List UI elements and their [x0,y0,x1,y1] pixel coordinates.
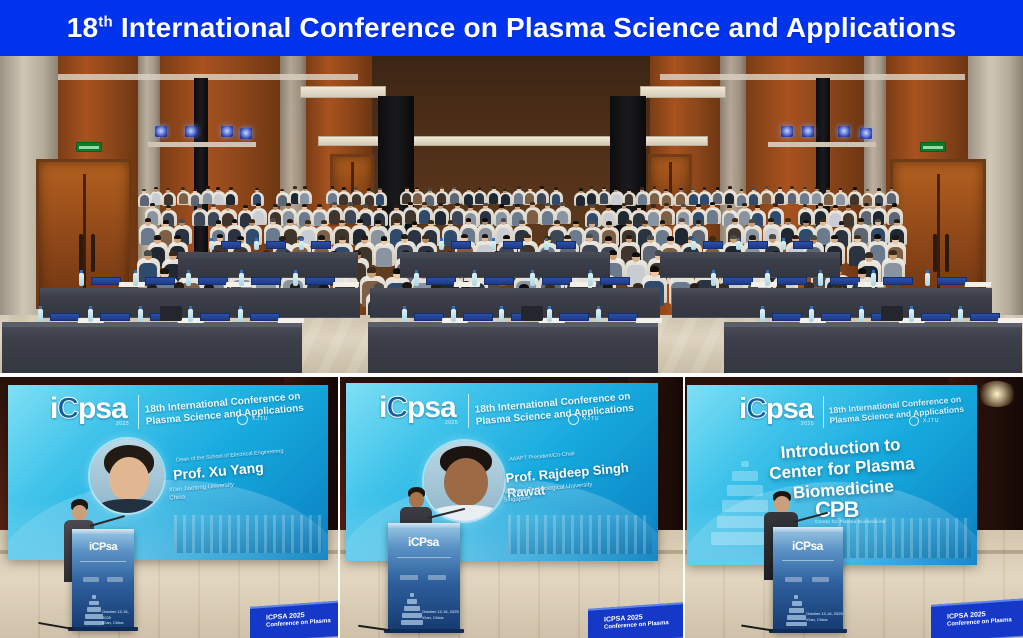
floor-banner-text-b: ICPSA 2025 Conference on Plasma [604,612,669,631]
water-bottle [547,309,552,322]
podium-badge-a-2 [107,577,123,582]
audience-member-hair [367,267,376,273]
audience-member-hair [627,188,631,191]
photo-conference-hall [0,56,1023,373]
audience-member-hair [150,203,155,206]
audience-member-hair [846,205,851,208]
audience-member-hair [528,187,532,190]
audience-member [537,193,546,204]
presenter-head-a [72,505,87,521]
podium-footer-line2-a: Xi'an, China [102,620,134,626]
audience-member [164,194,173,205]
water-bottle [293,273,298,286]
audience-member-hair [732,218,738,222]
audience-member-hair [302,204,307,207]
audience-member-hair [174,235,181,240]
audience-member [179,193,188,204]
stage-light-8 [860,128,872,139]
icpsa-logo-a: iCpsa [50,394,127,424]
audience-member-hair [818,203,823,206]
audience-member-hair [483,203,488,206]
audience-member-hair [573,221,579,225]
audience-member-hair [332,202,337,205]
audience-member-hair [589,221,595,225]
audience-member [638,194,647,205]
head-table-left-top [2,322,302,327]
audience-member [707,210,718,224]
icpsa-logo-year-b: 2025 [445,420,458,426]
audience-member [824,194,833,205]
title-number: 18 [67,12,99,43]
audience-member-hair [503,188,507,191]
screen-conference-title-a: 18th International Conference on Plasma … [144,389,320,427]
audience-member-hair [540,186,544,189]
audience-member [749,194,758,205]
door-handle-right-2 [945,234,949,272]
audience-member-hair [354,187,358,190]
pagoda-tier [786,622,807,626]
audience-member [762,193,771,204]
chandelier-icon [977,381,1017,407]
stage-light-2 [185,126,197,137]
audience-member-hair [467,188,471,191]
podium-footer-line1-b: October 12-16, 2025 [422,609,459,615]
projection-screen-a: iCpsa 2025 18th International Conference… [8,385,328,560]
audience-member-hair [226,205,231,208]
audience-member-hair [515,204,520,207]
name-placard [937,277,967,285]
name-placard [821,313,851,321]
water-bottle [299,241,304,250]
water-bottle [451,309,456,322]
water-bottle [239,273,244,286]
name-placard [414,313,444,321]
portrait-face-a [109,457,149,501]
floor-banner-text-a: ICPSA 2025 Conference on Plasma [266,610,331,629]
water-bottle [238,309,243,322]
audience-member-hair [466,218,472,222]
audience-member [527,210,538,224]
screen-skyline-c [838,518,971,558]
water-bottle [209,241,214,250]
name-placard [266,241,286,249]
name-placard [50,313,80,321]
logo-letter-c: C [386,391,407,424]
presenter-head-b [409,492,424,508]
audience-member-hair [803,187,807,190]
pagoda-tier [789,608,804,613]
audience-member-hair [181,187,185,190]
delegate-table-rear-center [400,252,610,278]
water-bottle [491,241,496,250]
audience-member-hair [305,220,311,224]
delegate-table-rear-right [660,252,840,278]
audience-member-hair [632,252,640,257]
audience-member [345,210,356,224]
podium-a: iCPsa October 12-16, 2025 Xi'an, China [72,529,134,629]
laptop [521,306,543,321]
wall-valance-center [318,136,708,146]
audience-member [700,194,709,205]
name-placard [970,313,1000,321]
audience-member-hair [270,218,276,222]
audience-member-hair [664,189,668,192]
water-bottle [402,309,407,322]
podium-footer-line1-c: October 12-16, 2025 [806,611,843,617]
audience-member-hair [755,205,760,208]
talk-photos-strip: iCpsa 2025 18th International Conference… [0,377,1023,638]
audience-member-hair [318,235,325,240]
water-bottle [414,273,419,286]
head-table-center-top [368,322,658,327]
audience-member-hair [287,219,293,223]
audience-member [788,193,797,204]
audience-member-hair [833,205,838,208]
stage-light-6 [802,126,814,137]
audience-member-hair [211,204,216,207]
water-bottle [254,241,259,250]
audience-member [376,194,385,205]
audience-member [600,193,609,204]
audience-member [552,194,561,205]
pagoda-tier [92,595,96,599]
audience-member-hair [590,186,594,189]
audience-member-hair [609,250,617,255]
podium-footer-a: October 12-16, 2025 Xi'an, China [102,609,134,626]
audience-member-hair [679,188,683,191]
audience-member-hair [820,218,826,222]
name-placard [305,277,335,285]
audience-member [542,211,553,225]
audience-member-hair [728,186,732,189]
audience-member-hair [519,220,525,224]
audience-member-hair [810,235,817,240]
audience-member [612,194,621,205]
water-bottle [38,309,43,322]
audience-member-hair [605,236,612,241]
presenter-head-c [774,496,790,513]
audience-member-hair [653,186,657,189]
name-placard [198,277,228,285]
speaker-portrait-b [422,439,506,523]
pagoda-tier [85,614,103,619]
podium-badge-a [83,577,99,582]
water-bottle [530,273,535,286]
audience-member-hair [696,220,702,224]
audience-member-hair [357,219,363,223]
name-placard [250,313,280,321]
audience-member-hair [448,220,454,224]
audience-member-hair [606,221,612,225]
pagoda-tier [794,595,798,599]
audience-member [300,193,309,204]
water-bottle [79,273,84,286]
water-bottle [781,241,786,250]
podium-top-c [773,527,843,532]
audience-member-hair [367,188,371,191]
water-bottle [439,241,444,250]
audience-member-hair [765,186,769,189]
icpsa-logo-year-a: 2025 [116,421,129,427]
logo-divider-b [468,394,469,428]
audience-member-hair [331,186,335,189]
audience-member [376,248,392,268]
water-bottle [958,309,963,322]
university-seal-c [909,416,919,426]
audience-member-hair [408,202,413,205]
audience-member-hair [749,219,755,223]
pagoda-tier [401,620,423,625]
audience-member-hair [361,235,368,240]
conference-collage-page: 18th International Conference on Plasma … [0,0,1023,638]
audience-member-hair [342,187,346,190]
water-bottle [544,241,549,250]
podium-base-a [68,627,138,631]
podium-pagoda-a [84,595,104,625]
water-bottle [871,273,876,286]
audience-member-hair [831,235,838,240]
pagoda-tier [410,593,414,597]
podium-base-b [384,629,464,633]
audience-member-hair [303,186,307,189]
audience-member-hair [249,219,255,223]
audience-member [452,211,463,225]
water-bottle [596,309,601,322]
audience-member-hair [499,204,504,207]
exit-sign-right [920,142,946,152]
page-title: 18th International Conference on Plasma … [67,12,957,44]
stage-light-3 [221,126,233,137]
audience-member-hair [660,220,666,224]
university-seal-a [237,414,248,425]
name-placard [921,313,951,321]
audience-member-hair [889,250,897,255]
audience-member-hair [321,220,327,224]
audience-member-hair [853,187,857,190]
audience-member-hair [785,218,791,222]
audience-member-hair [560,202,565,205]
audience-member [226,194,235,205]
audience-member-hair [854,235,861,240]
logo-letter-i: i [739,393,746,425]
water-bottle [818,273,823,286]
audience-member [435,211,446,225]
audience-member-hair [590,205,595,208]
water-bottle [138,309,143,322]
audience-member-hair [545,203,550,206]
audience-member-hair [339,236,346,241]
water-bottle [925,273,930,286]
audience-member-hair [875,219,881,223]
audience-member-hair [229,187,233,190]
audience-member-hair [217,234,224,239]
pagoda-tier [84,621,104,625]
logo-divider-c [823,396,824,428]
audience-member-hair [554,220,560,224]
name-placard [883,277,913,285]
logo-letter-c: C [746,393,766,425]
audience-member [887,193,896,204]
audience-member-hair [679,218,685,222]
audience-member-hair [375,220,381,224]
audience-member [576,195,585,206]
audience-member-hair [243,205,248,208]
audience-member-hair [145,218,151,222]
audience-member-hair [749,235,756,240]
wall-valance-left [300,86,386,98]
audience-member [843,213,854,227]
audience-member-hair [752,187,756,190]
podium-logo-a: iCPsa [89,541,117,553]
audience-member-hair [727,205,732,208]
name-placard [793,241,813,249]
audience-member-hair [216,187,220,190]
audience-member-hair [877,188,881,191]
portrait-shoulder-a [96,499,162,515]
audience-member-hair [606,205,611,208]
audience-member-hair [892,235,899,240]
audience-member [836,194,845,205]
audience-member-hair [769,234,776,239]
audience-member-hair [339,220,345,224]
audience-member-hair [730,235,737,240]
audience-member-hair [554,187,558,190]
audience-member-hair [524,234,531,239]
water-bottle [133,273,138,286]
audience-member-hair [438,203,443,206]
audience-member-hair [394,205,399,208]
audience-member-hair [890,187,894,190]
audience-member-hair [452,187,456,190]
exit-sign-left [76,142,102,152]
audience-member-hair [815,187,819,190]
audience-member-hair [405,187,409,190]
photo-talk-xu-yang: iCpsa 2025 18th International Conference… [0,377,338,638]
audience-member [725,193,734,204]
audience-member-hair [894,219,900,223]
water-bottle [588,273,593,286]
name-placard [703,241,723,249]
cpb-logo-subtitle-c: Center for Plasma Biomedicine [815,519,886,524]
screen-skyline-b [508,515,652,554]
name-placard [145,277,175,285]
podium-logo-b: iCPsa [408,535,439,549]
photo-talk-plasma-biomedicine: iCpsa 2025 18th International Conference… [685,377,1023,638]
audience-member-hair [286,203,291,206]
podium-rule-b [397,557,451,558]
door-handle-left [79,234,83,272]
screen-conference-title-c: 18th International Conference on Plasma … [828,394,977,427]
audience-member-hair [826,188,830,191]
stage-light-1 [155,126,167,137]
audience-member [800,193,809,204]
audience-member-hair [640,187,644,190]
audience-member-hair [154,235,161,240]
lighting-truss-right [768,142,876,147]
water-bottle [691,241,696,250]
audience-member-hair [768,218,774,222]
audience-member-hair [866,189,870,192]
audience-member-hair [614,187,618,190]
audience-member-hair [626,220,632,224]
logo-divider-a [138,395,139,429]
audience-member-hair [317,204,322,207]
audience-member-hair [642,220,648,224]
audience-member-hair [622,203,627,206]
name-placard [723,277,753,285]
title-superscript: th [98,14,113,31]
audience-member-hair [232,219,238,223]
audience-member-hair [626,235,633,240]
ceiling-band-right [660,74,965,80]
audience-member [850,194,859,205]
audience-member-hair [650,266,659,272]
audience-member-hair [255,188,259,191]
audience-member-hair [637,205,642,208]
podium-c: iCPsa October 12-16, 2025 Xi'an, China [773,527,843,631]
name-placard [830,277,860,285]
podium-top-b [388,523,460,528]
audience-member-hair [874,234,881,239]
audience-member-hair [790,186,794,189]
head-table-center [368,324,658,373]
audience-member-hair [742,203,747,206]
pagoda-tier [787,615,806,620]
podium-rule-a [80,561,126,562]
audience-member-hair [166,205,171,208]
water-bottle [909,309,914,322]
audience-member-hair [839,221,845,225]
audience-member-hair [865,252,873,257]
audience-member [203,193,212,204]
podium-badge-b [400,575,418,580]
icpsa-logo-year-c: 2025 [801,421,814,427]
podium-pagoda-c [786,595,807,626]
document-paper [332,282,359,287]
floor-banner-a: ICPSA 2025 Conference on Plasma [250,599,338,638]
speaker-portrait-a [88,437,166,515]
audience-member-hair [428,220,434,224]
pagoda-tier [404,606,420,611]
audience-member-hair [647,235,654,240]
audience-member-hair [876,203,881,206]
audience-member [489,193,498,204]
podium-rule-c [782,560,834,561]
audience-member [352,194,361,205]
document-paper [635,318,662,323]
audience-member-hair [579,188,583,191]
audience-member-hair [455,203,460,206]
water-bottle [472,273,477,286]
audience-member-hair [703,187,707,190]
audience-member [194,212,205,226]
lighting-truss-left [148,142,256,147]
audience-member-hair [422,202,427,205]
name-placard [600,277,630,285]
name-placard [251,277,281,285]
audience-member [339,194,348,205]
audience-member [648,212,659,226]
floor-banner-text-c: ICPSA 2025 Conference on Plasma [947,609,1012,628]
document-paper [964,282,991,287]
audience-member-hair [256,203,261,206]
podium-badge-c-2 [812,577,829,582]
audience-member [413,193,422,204]
audience-member-hair [586,234,593,239]
audience-member [214,194,223,205]
laptop [160,306,182,321]
university-seal-b [568,414,579,425]
